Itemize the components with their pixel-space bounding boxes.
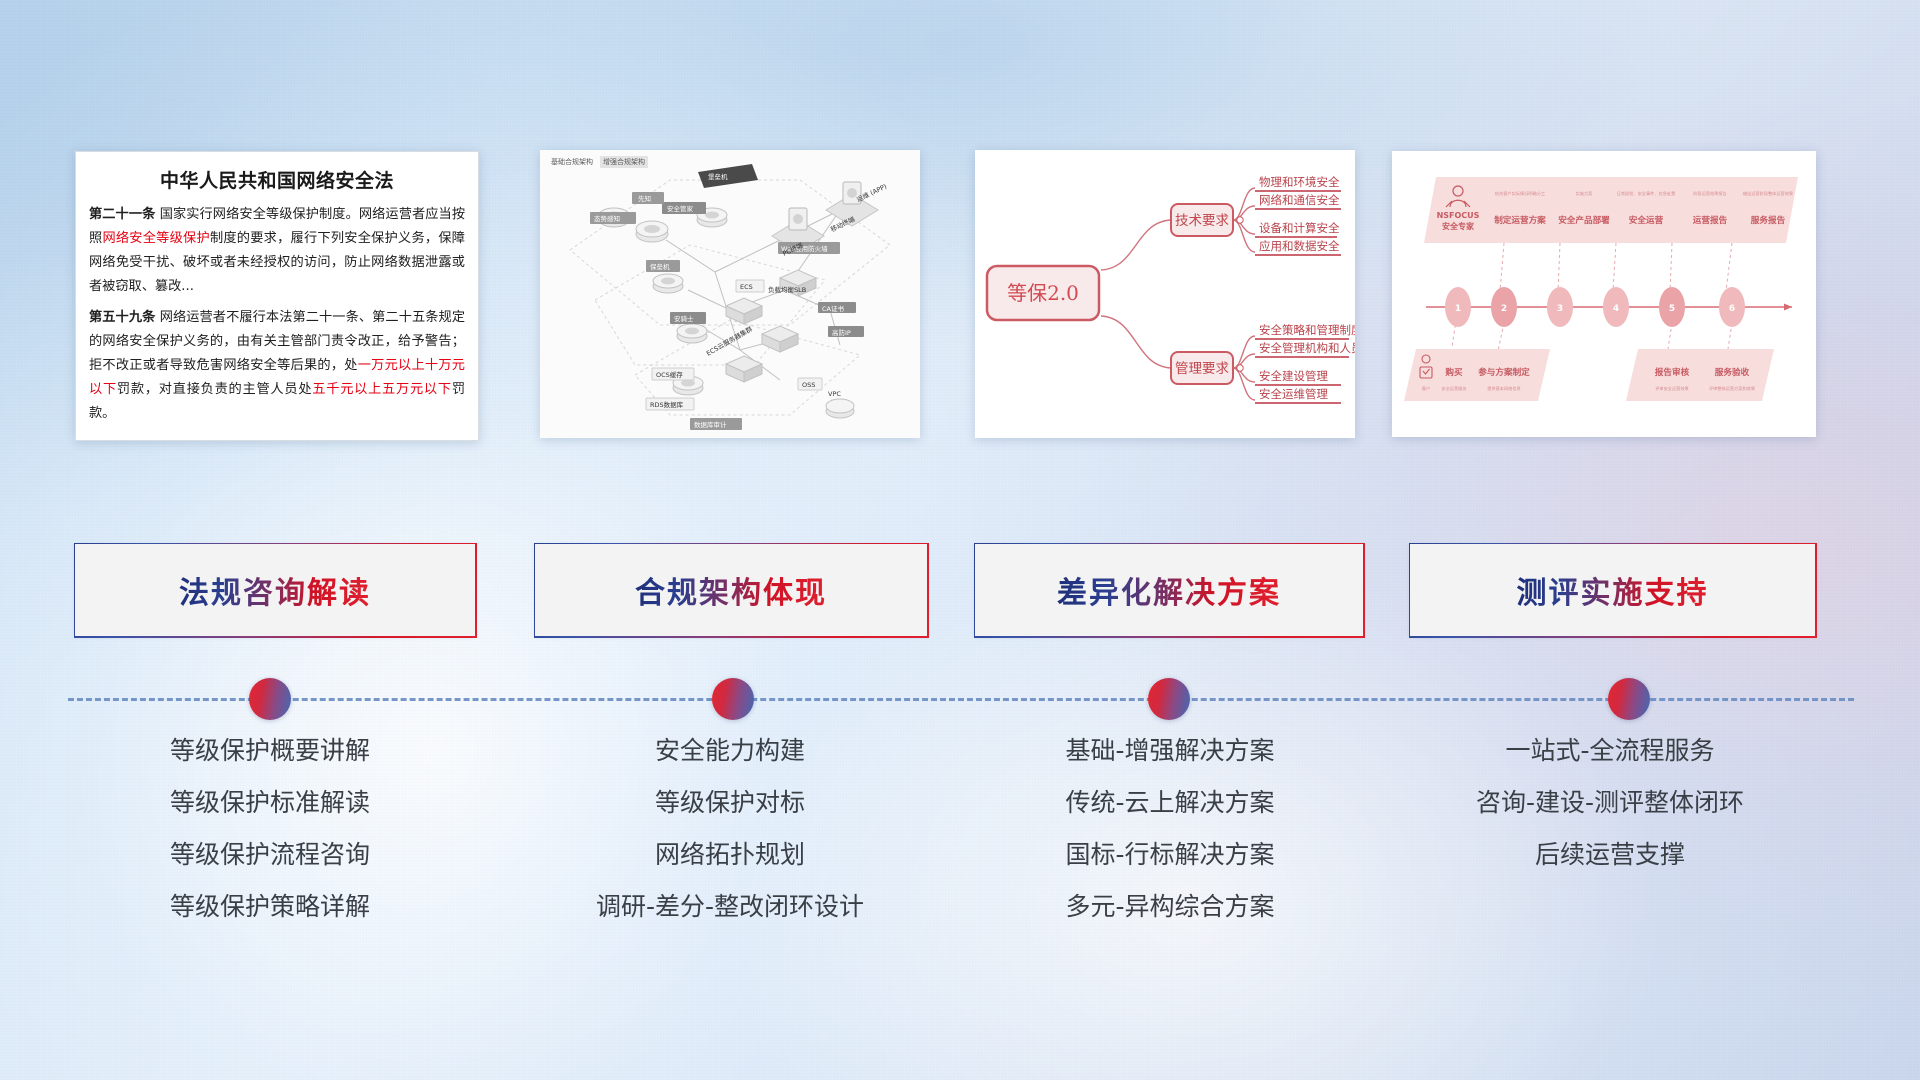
arch-node-dbaudit: 数据库审计 [690,418,742,430]
timeline-dot-1[interactable] [249,678,291,720]
nsfocus-axis-arrow [1784,304,1792,311]
illustration-card-row: 中华人民共和国网络安全法 第二十一条 国家实行网络安全等级保护制度。网络运营者应… [0,148,1920,448]
nsfocus-diagram: NSFOCUS 安全专家 结合客户实际情况明确分工 制定运营方案 实施方案 安全… [1392,151,1816,437]
nsfocus-top-title: 制定运营方案 [1494,214,1546,226]
service-column-4: 一站式-全流程服务 咨询-建设-测评整体闭环 后续运营支撑 [1400,738,1820,894]
nsfocus-step-number: 5 [1669,304,1675,314]
nsfocus-top-sub: 日常巡检、安全事件、应急处置 [1617,190,1676,197]
heading-label-1: 法规咨询解读 [179,568,371,612]
nsfocus-top-banner [1424,177,1798,243]
heading-box-2[interactable]: 合规架构体现 [535,544,927,636]
law-article-59-highlight-2: 五千元以上五万元以下 [312,382,452,397]
arch-node-ca: CA证书 [818,302,856,313]
svg-text:高防IP: 高防IP [832,328,851,337]
mindmap-leaf: 物理和环境安全 [1259,175,1340,189]
law-article-59-text-b: 罚款，对直接负责的主管人员处 [117,382,312,397]
nsfocus-top-sub: 实施方案 [1576,190,1594,197]
nsfocus-step-number: 1 [1455,304,1461,314]
arch-node-ecszone: ECS云服务器集群 [705,324,755,358]
svg-text:保垒机: 保垒机 [650,262,670,271]
list-item: 国标-行标解决方案 [1000,842,1340,867]
mindmap-leaf: 安全运维管理 [1259,387,1328,401]
arch-node-xianzhi: 先知 [632,192,664,204]
arch-node-vpc: VPC [828,390,841,398]
nsfocus-bottom-sub: 评审安全运营效果 [1655,385,1689,392]
nsfocus-top-sub: 阶段运营效果报告 [1693,190,1727,197]
nsfocus-top-title: 安全产品部署 [1558,214,1610,226]
list-item: 咨询-建设-测评整体闭环 [1400,790,1820,815]
list-item: 基础-增强解决方案 [1000,738,1340,763]
law-title: 中华人民共和国网络安全法 [76,166,478,193]
heading-label-2: 合规架构体现 [635,568,827,612]
list-item: 调研-差分-整改闭环设计 [520,894,940,919]
service-column-1: 等级保护概要讲解 等级保护标准解读 等级保护流程咨询 等级保护策略详解 [90,738,450,946]
arch-node-oss: OSS [798,378,822,390]
arch-node-taishiganzhi: 态势感知 [590,212,636,224]
card-dengbao-mindmap[interactable]: 等保2.0 技术要求 管理要求 物理和环境安全 网络和通信安全 设备和计算安全 … [975,150,1355,438]
nsfocus-bottom-title: 参与方案制定 [1478,366,1530,378]
nsfocus-step-number: 4 [1613,304,1619,314]
heading-box-3[interactable]: 差异化解决方案 [975,544,1363,636]
heading-label-4: 测评实施支持 [1517,568,1709,612]
list-item: 安全能力构建 [520,738,940,763]
law-article-21: 第二十一条 国家实行网络安全等级保护制度。网络运营者应当按照网络安全等级保护制度… [89,203,465,299]
arch-node-rds: RDS数据库 [646,398,694,410]
svg-text:先知: 先知 [638,194,651,203]
card-cloud-architecture[interactable]: 基础合规架构 增强合规架构 [540,150,920,438]
list-item: 传统-云上解决方案 [1000,790,1340,815]
service-column-3: 基础-增强解决方案 传统-云上解决方案 国标-行标解决方案 多元-异构综合方案 [1000,738,1340,946]
mindmap-leaf: 设备和计算安全 [1259,221,1340,235]
svg-text:安全管家: 安全管家 [667,204,694,213]
arch-node-anquanguanjia: 安全管家 [662,202,706,214]
mindmap-leaf: 安全管理机构和人员 [1259,341,1355,355]
list-item: 多元-异构综合方案 [1000,894,1340,919]
nsfocus-step-number: 6 [1729,304,1735,314]
list-item: 等级保护流程咨询 [90,842,450,867]
timeline-dot-3[interactable] [1148,678,1190,720]
mindmap-branch-tech-label: 技术要求 [1175,213,1229,229]
heading-box-4[interactable]: 测评实施支持 [1410,544,1815,636]
list-item: 等级保护对标 [520,790,940,815]
list-item: 等级保护标准解读 [90,790,450,815]
nsfocus-customer-label: 客户 [1422,385,1430,392]
nsfocus-top-title: 服务报告 [1751,214,1786,226]
arch-node-slb: 负载均衡SLB [768,285,806,294]
nsfocus-top-sub: 结合客户实际情况明确分工 [1495,190,1545,197]
nsfocus-bottom-banner-right [1626,349,1774,401]
heading-row: 法规咨询解读 合规架构体现 差异化解决方案 测评实施支持 [0,544,1920,648]
heading-label-3: 差异化解决方案 [1057,568,1281,612]
heading-box-1[interactable]: 法规咨询解读 [75,544,475,636]
arch-node-ecs: ECS [736,280,764,292]
service-list-row: 等级保护概要讲解 等级保护标准解读 等级保护流程咨询 等级保护策略详解 安全能力… [0,738,1920,988]
timeline-dot-4[interactable] [1608,678,1650,720]
nsfocus-brand-line2: 安全专家 [1442,221,1475,231]
svg-text:RDS数据库: RDS数据库 [650,400,684,409]
nsfocus-bottom-sub: 提供基本网络信息 [1487,385,1521,392]
mindmap-leaf: 应用和数据安全 [1259,239,1340,253]
svg-text:态势感知: 态势感知 [594,214,620,223]
mindmap-leaf: 网络和通信安全 [1259,193,1340,207]
mindmap-branch-mgmt-label: 管理要求 [1175,361,1229,377]
arch-node-ocs: OCS缓存 [652,368,694,380]
service-column-2: 安全能力构建 等级保护对标 网络拓扑规划 调研-差分-整改闭环设计 [520,738,940,946]
mindmap-leaf: 安全策略和管理制度 [1259,323,1355,337]
arch-node-baoleiji: 堡垒机 [698,164,758,188]
svg-text:安骑士: 安骑士 [674,314,694,323]
architecture-svg: 堡垒机 安全管家 先知 态势感知 保垒机 安骑士 Web应用防火墙 CA证书 高… [540,150,920,438]
svg-text:CA证书: CA证书 [822,304,844,313]
card-law-document[interactable]: 中华人民共和国网络安全法 第二十一条 国家实行网络安全等级保护制度。网络运营者应… [75,151,479,441]
law-article-21-highlight: 网络安全等级保护 [102,231,210,246]
svg-text:OSS: OSS [802,381,815,389]
timeline-dot-2[interactable] [712,678,754,720]
svg-text:ECS云服务器集群: ECS云服务器集群 [705,324,755,358]
svg-text:VPC: VPC [828,390,841,398]
svg-text:ECS: ECS [740,283,753,291]
mindmap-root-label: 等保2.0 [1007,281,1079,305]
nsfocus-step-number: 2 [1501,304,1507,314]
list-item: 等级保护概要讲解 [90,738,450,763]
law-article-21-label: 第二十一条 [89,207,155,222]
nsfocus-bottom-title: 购买 [1445,366,1463,378]
timeline [0,660,1920,740]
nsfocus-top-sub: 输出运营阶段整体运营效果 [1743,190,1794,197]
law-article-59-label: 第五十九条 [89,310,155,325]
mindmap-svg: 等保2.0 技术要求 管理要求 物理和环境安全 网络和通信安全 设备和计算安全 … [975,150,1355,438]
arch-node-baoleiji2: 保垒机 [646,260,680,272]
architecture-diagram: 基础合规架构 增强合规架构 [540,150,920,438]
list-item: 等级保护策略详解 [90,894,450,919]
nsfocus-bottom-title: 报告审核 [1655,366,1690,378]
list-item: 网络拓扑规划 [520,842,940,867]
nsfocus-svg: NSFOCUS 安全专家 结合客户实际情况明确分工 制定运营方案 实施方案 安全… [1392,151,1816,437]
list-item: 后续运营支撑 [1400,842,1820,867]
svg-text:堡垒机: 堡垒机 [708,172,728,181]
nsfocus-top-title: 运营报告 [1693,214,1728,226]
nsfocus-bottom-sub: 评审整体运营方案和效果 [1709,385,1756,392]
arch-node-gaofangip: 高防IP [828,326,864,337]
nsfocus-step-number: 3 [1557,304,1563,314]
svg-text:负载均衡SLB: 负载均衡SLB [768,285,806,294]
list-item: 一站式-全流程服务 [1400,738,1820,763]
card-nsfocus-timeline[interactable]: NSFOCUS 安全专家 结合客户实际情况明确分工 制定运营方案 实施方案 安全… [1392,151,1816,437]
nsfocus-bottom-title: 服务验收 [1715,366,1750,378]
mindmap-leaf: 安全建设管理 [1259,369,1328,383]
svg-text:数据库审计: 数据库审计 [694,420,727,429]
law-article-59: 第五十九条 网络运营者不履行本法第二十一条、第二十五条规定的网络安全保护义务的，… [89,306,465,426]
nsfocus-brand-line1: NSFOCUS [1437,211,1480,220]
timeline-dashed-line [68,698,1854,701]
nsfocus-top-title: 安全运营 [1629,214,1664,226]
svg-text:OCS缓存: OCS缓存 [656,370,683,379]
mindmap: 等保2.0 技术要求 管理要求 物理和环境安全 网络和通信安全 设备和计算安全 … [975,150,1355,438]
nsfocus-bottom-sub: 安全运营服务 [1441,385,1467,392]
arch-node-anqishi: 安骑士 [670,312,706,324]
